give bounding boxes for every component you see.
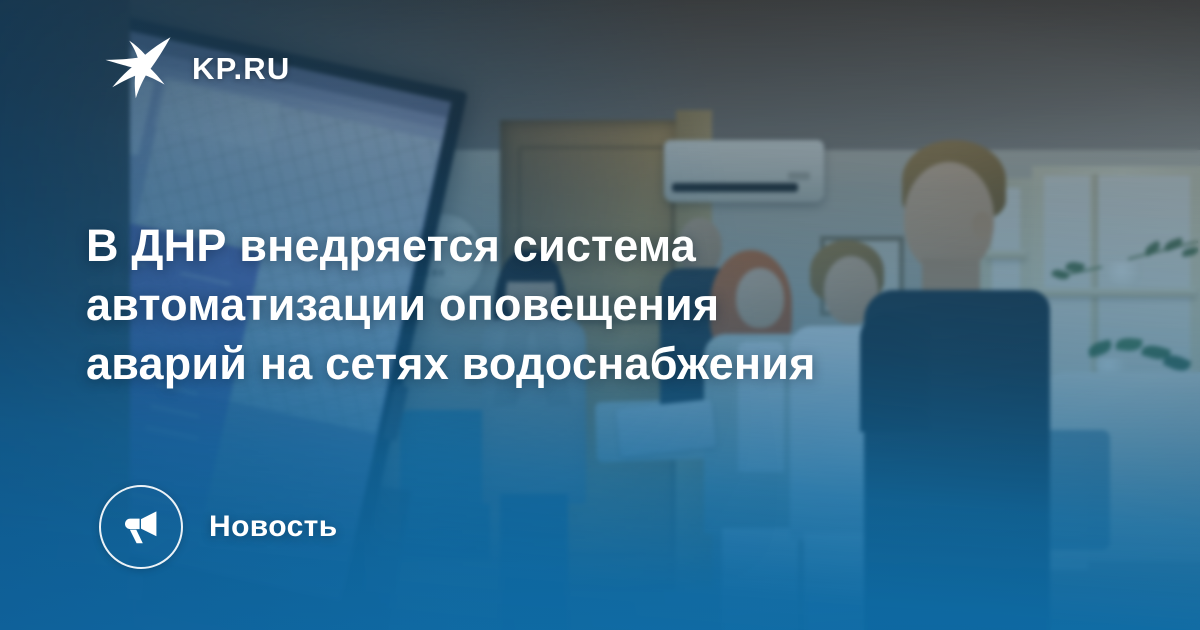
badge-icon-circle bbox=[99, 485, 183, 569]
brand-lockup[interactable]: KP.RU bbox=[104, 36, 290, 100]
brand-name: KP.RU bbox=[192, 53, 290, 84]
headline-line-1: В ДНР внедряется система bbox=[86, 216, 1036, 275]
share-card: МОСКВА 180 bbox=[0, 0, 1200, 630]
headline-line-2: автоматизации оповещения bbox=[86, 275, 1036, 334]
headline-line-3: аварий на сетях водоснабжения bbox=[86, 334, 1036, 393]
page-title: В ДНР внедряется система автоматизации о… bbox=[86, 216, 1036, 393]
swallow-bird-icon bbox=[104, 36, 172, 100]
megaphone-icon bbox=[120, 506, 162, 548]
card-content: KP.RU В ДНР внедряется система автоматиз… bbox=[0, 0, 1200, 630]
badge-label: Новость bbox=[209, 512, 338, 542]
status-badge[interactable]: Новость bbox=[99, 485, 338, 569]
